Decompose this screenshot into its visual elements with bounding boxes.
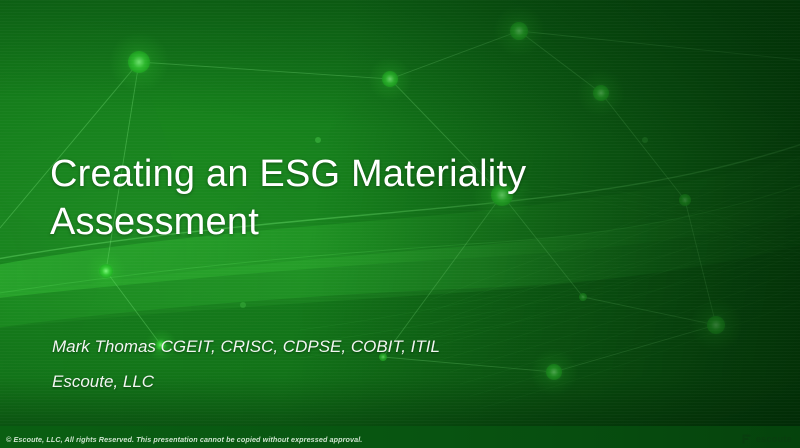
- escoute-logo-icon: [740, 433, 752, 445]
- title-slide: Creating an ESG Materiality Assessment M…: [0, 0, 800, 448]
- copyright-notice: © Escoute, LLC, All rights Reserved. Thi…: [6, 435, 362, 444]
- slide-title: Creating an ESG Materiality Assessment: [50, 151, 650, 246]
- presenter-name-credentials: Mark Thomas CGEIT, CRISC, CDPSE, COBIT, …: [52, 330, 692, 365]
- presenter-company: Escoute, LLC: [52, 365, 692, 400]
- slide-subtitle: Mark Thomas CGEIT, CRISC, CDPSE, COBIT, …: [52, 330, 692, 400]
- escoute-branding: escoute: [740, 433, 792, 445]
- escoute-wordmark: escoute: [756, 434, 792, 444]
